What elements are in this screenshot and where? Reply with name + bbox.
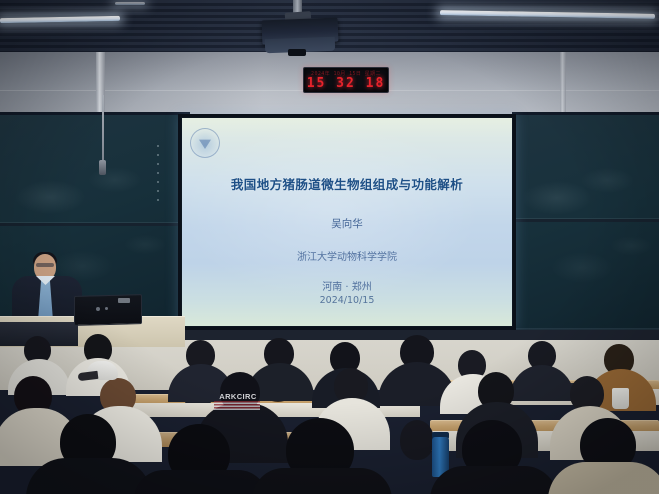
shirt-text: ARKCIRC — [209, 392, 267, 401]
slide-place: 河南 · 郑州 — [182, 278, 512, 293]
audience-shoulders — [430, 466, 558, 494]
slide-date: 2024/10/15 — [182, 295, 512, 306]
audience-shoulders — [26, 458, 152, 494]
blackboard-right-panel — [512, 112, 659, 336]
hanging-cable — [102, 95, 104, 163]
audience-head — [400, 420, 434, 460]
audience-shoulders — [252, 468, 392, 494]
blackboard-divider — [515, 219, 659, 222]
fluorescent-tube-light — [115, 2, 145, 5]
shirt-flag-graphic — [214, 401, 260, 410]
audience-shoulders — [548, 462, 659, 494]
projection-screen: 我国地方猪肠道微生物组组成与功能解析 吴向华 浙江大学动物科学学院 河南 · 郑… — [182, 118, 512, 326]
slide-affiliation: 浙江大学动物科学学院 — [182, 248, 512, 263]
wall-pillar — [560, 52, 566, 114]
paper-cup — [612, 388, 629, 409]
laptop-badge — [118, 298, 130, 303]
blackboard-divider — [0, 223, 187, 226]
blackboard-hinge — [157, 145, 159, 205]
clock-time-readout: 15 32 18 — [304, 76, 388, 91]
slide-author: 吴向华 — [182, 216, 512, 231]
projector-lens — [288, 49, 306, 56]
cable-weight — [99, 160, 106, 175]
slide-title: 我国地方猪肠道微生物组组成与功能解析 — [182, 174, 512, 193]
speaker-glasses — [36, 263, 54, 267]
laptop-indicator — [105, 307, 108, 310]
laptop-indicator — [96, 307, 100, 311]
lecture-hall-photo: 2024年 10月 15日 星期二 15 32 18 我国地方猪肠道微生物组组成… — [0, 0, 659, 494]
led-wall-clock: 2024年 10月 15日 星期二 15 32 18 — [303, 67, 389, 93]
audience-shoulders — [134, 470, 268, 494]
podium-laptop — [74, 294, 142, 326]
zhejiang-university-logo-icon — [190, 128, 220, 158]
chalk-residue — [515, 115, 659, 333]
